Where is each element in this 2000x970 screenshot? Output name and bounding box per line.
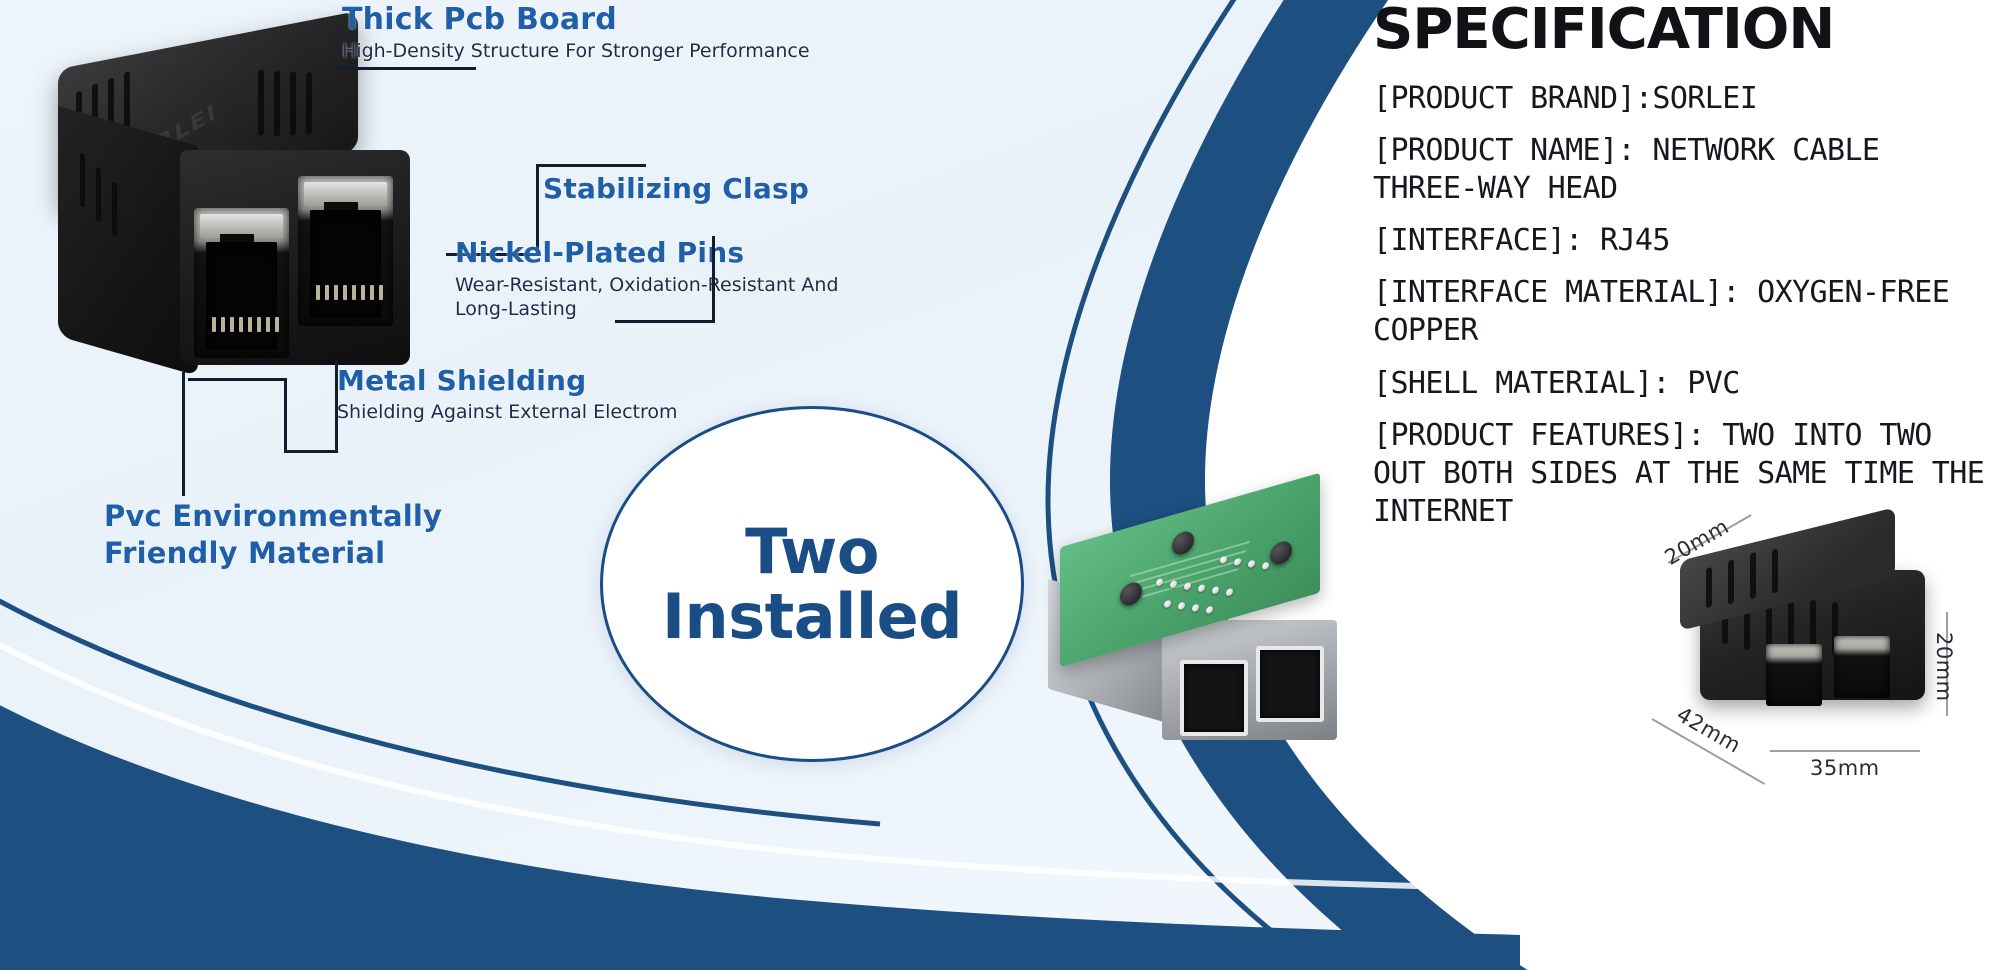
- spec-item: [INTERFACE MATERIAL]: OXYGEN-FREE COPPER: [1373, 274, 1993, 350]
- two-installed-badge: Two Installed: [600, 406, 1024, 762]
- callout-title: Pvc Environmentally Friendly Material: [104, 498, 554, 572]
- spec-item: [SHELL MATERIAL]: PVC: [1373, 365, 1993, 403]
- specification-panel: SPECIFICATION [PRODUCT BRAND]:SORLEI [PR…: [1373, 2, 1993, 545]
- infographic-canvas: SORLEI Thick Pcb Board High-Density Stru…: [0, 0, 2000, 970]
- dimension-line-width: [1770, 750, 1920, 752]
- specification-heading: SPECIFICATION: [1373, 2, 1993, 58]
- housing-left-face: [58, 106, 198, 376]
- callout-nickel-plated-pins: Nickel-Plated Pins Wear-Resistant, Oxida…: [455, 236, 925, 322]
- dimension-label-height: 20mm: [1932, 632, 1956, 702]
- rj45-port-right: [1256, 646, 1324, 722]
- callout-title: Thick Pcb Board: [342, 2, 902, 37]
- callout-desc: Shielding Against External Electrom: [337, 401, 767, 423]
- callout-desc: Wear-Resistant, Oxidation-Resistant And …: [455, 273, 885, 322]
- callout-title: Metal Shielding: [337, 364, 807, 397]
- rj45-port-left: [1180, 660, 1248, 736]
- product-photo-pcb-internals: [1020, 500, 1380, 770]
- callout-title: Stabilizing Clasp: [543, 172, 963, 205]
- spec-item: [PRODUCT NAME]: NETWORK CABLE THREE-WAY …: [1373, 132, 1993, 208]
- rj45-port-left: [1766, 644, 1822, 706]
- jack-housing-part: [1162, 620, 1337, 740]
- dimension-label-length: 42mm: [1673, 702, 1745, 758]
- callout-stabilizing-clasp: Stabilizing Clasp: [543, 172, 963, 205]
- dimension-label-width: 35mm: [1810, 756, 1880, 780]
- spec-item: [PRODUCT FEATURES]: TWO INTO TWO OUT BOT…: [1373, 417, 1993, 531]
- callout-metal-shielding: Metal Shielding Shielding Against Extern…: [337, 364, 807, 423]
- badge-line-2: Installed: [662, 584, 962, 649]
- badge-line-1: Two: [662, 519, 962, 584]
- housing-front-face: [180, 150, 410, 365]
- rj45-port-left: [194, 208, 289, 358]
- callout-desc: High-Density Structure For Stronger Perf…: [342, 40, 902, 62]
- callout-thick-pcb-board: Thick Pcb Board High-Density Structure F…: [342, 2, 902, 62]
- rj45-port-right: [1834, 636, 1890, 698]
- rj45-port-right: [298, 176, 393, 326]
- spec-item: [INTERFACE]: RJ45: [1373, 222, 1993, 260]
- callout-title: Nickel-Plated Pins: [455, 236, 925, 269]
- spec-item: [PRODUCT BRAND]:SORLEI: [1373, 80, 1993, 118]
- callout-pvc-material: Pvc Environmentally Friendly Material: [104, 498, 574, 572]
- product-photo-dimensions: 20mm 20mm 42mm 35mm: [1660, 520, 1990, 770]
